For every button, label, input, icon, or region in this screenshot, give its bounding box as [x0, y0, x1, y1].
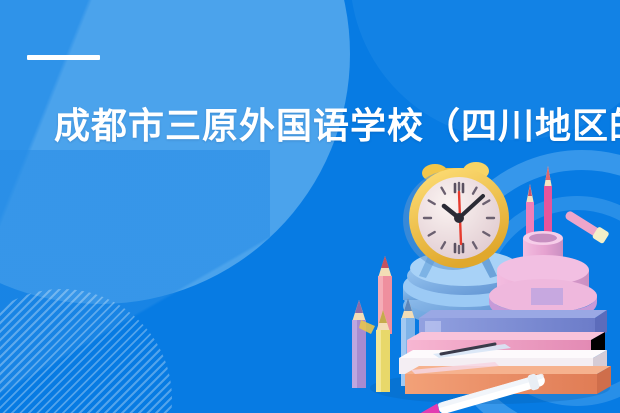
divider-rule — [27, 55, 100, 60]
banner-headline: 成都市三原外国语学校（四川地区的 — [54, 100, 599, 152]
promo-banner: 成都市三原外国语学校（四川地区的 — [0, 0, 620, 413]
school-supplies-illustration — [345, 158, 620, 413]
